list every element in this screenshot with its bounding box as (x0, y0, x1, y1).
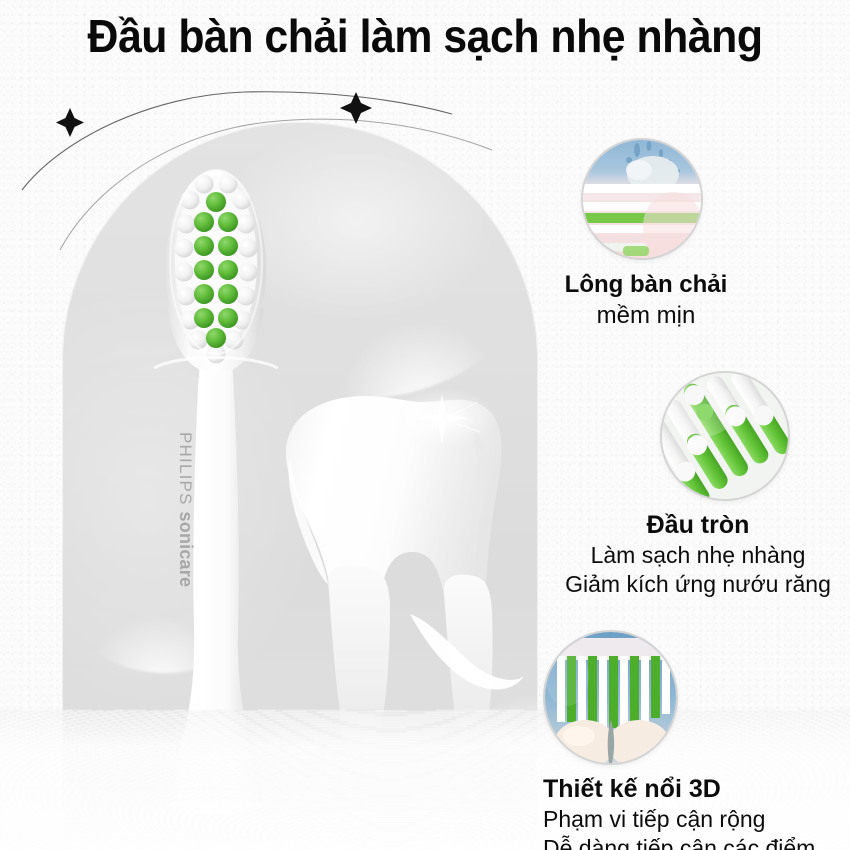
rounded-tip-bristles-photo (662, 373, 788, 499)
page-title: Đầu bàn chải làm sạch nhẹ nhàng (30, 8, 821, 64)
feature-caption: Thiết kế nổi 3D Phạm vi tiếp cận rộng Dễ… (543, 773, 850, 850)
feature-callout-rounded-tips: Đầu tròn Làm sạch nhẹ nhàng Giảm kích ứn… (548, 373, 848, 600)
feature-line: Dễ dàng tiếp cận các điểm mù (543, 834, 850, 850)
feature-callout-soft-bristles: Lông bàn chải mềm mịn (500, 140, 790, 331)
product-feature-image: Đầu bàn chải làm sạch nhẹ nhàng (0, 0, 850, 850)
bristle-closeup-photo (583, 140, 701, 258)
feature-callout-3d-contour: Thiết kế nổi 3D Phạm vi tiếp cận rộng Dễ… (543, 632, 850, 850)
brand-sonicare-text: sonicare (176, 512, 196, 588)
molar-tooth-illustration (262, 388, 524, 788)
3d-contour-bristles-photo (545, 632, 676, 763)
brand-logo-text: PHILIPS sonicare (175, 432, 196, 587)
feature-caption: Đầu tròn Làm sạch nhẹ nhàng Giảm kích ứn… (548, 509, 848, 600)
feature-heading: Đầu tròn (548, 509, 848, 541)
feature-line: Phạm vi tiếp cận rộng (543, 805, 850, 834)
feature-line: Giảm kích ứng nướu răng (548, 570, 848, 599)
feature-line: Làm sạch nhẹ nhàng (548, 541, 848, 570)
brand-philips-text: PHILIPS (176, 432, 195, 506)
toothbrush-head-illustration (150, 158, 282, 818)
feature-heading: Thiết kế nổi 3D (543, 773, 850, 805)
feature-caption: Lông bàn chải mềm mịn (500, 270, 790, 331)
feature-line: mềm mịn (502, 301, 790, 332)
feature-heading: Lông bàn chải (502, 270, 790, 301)
